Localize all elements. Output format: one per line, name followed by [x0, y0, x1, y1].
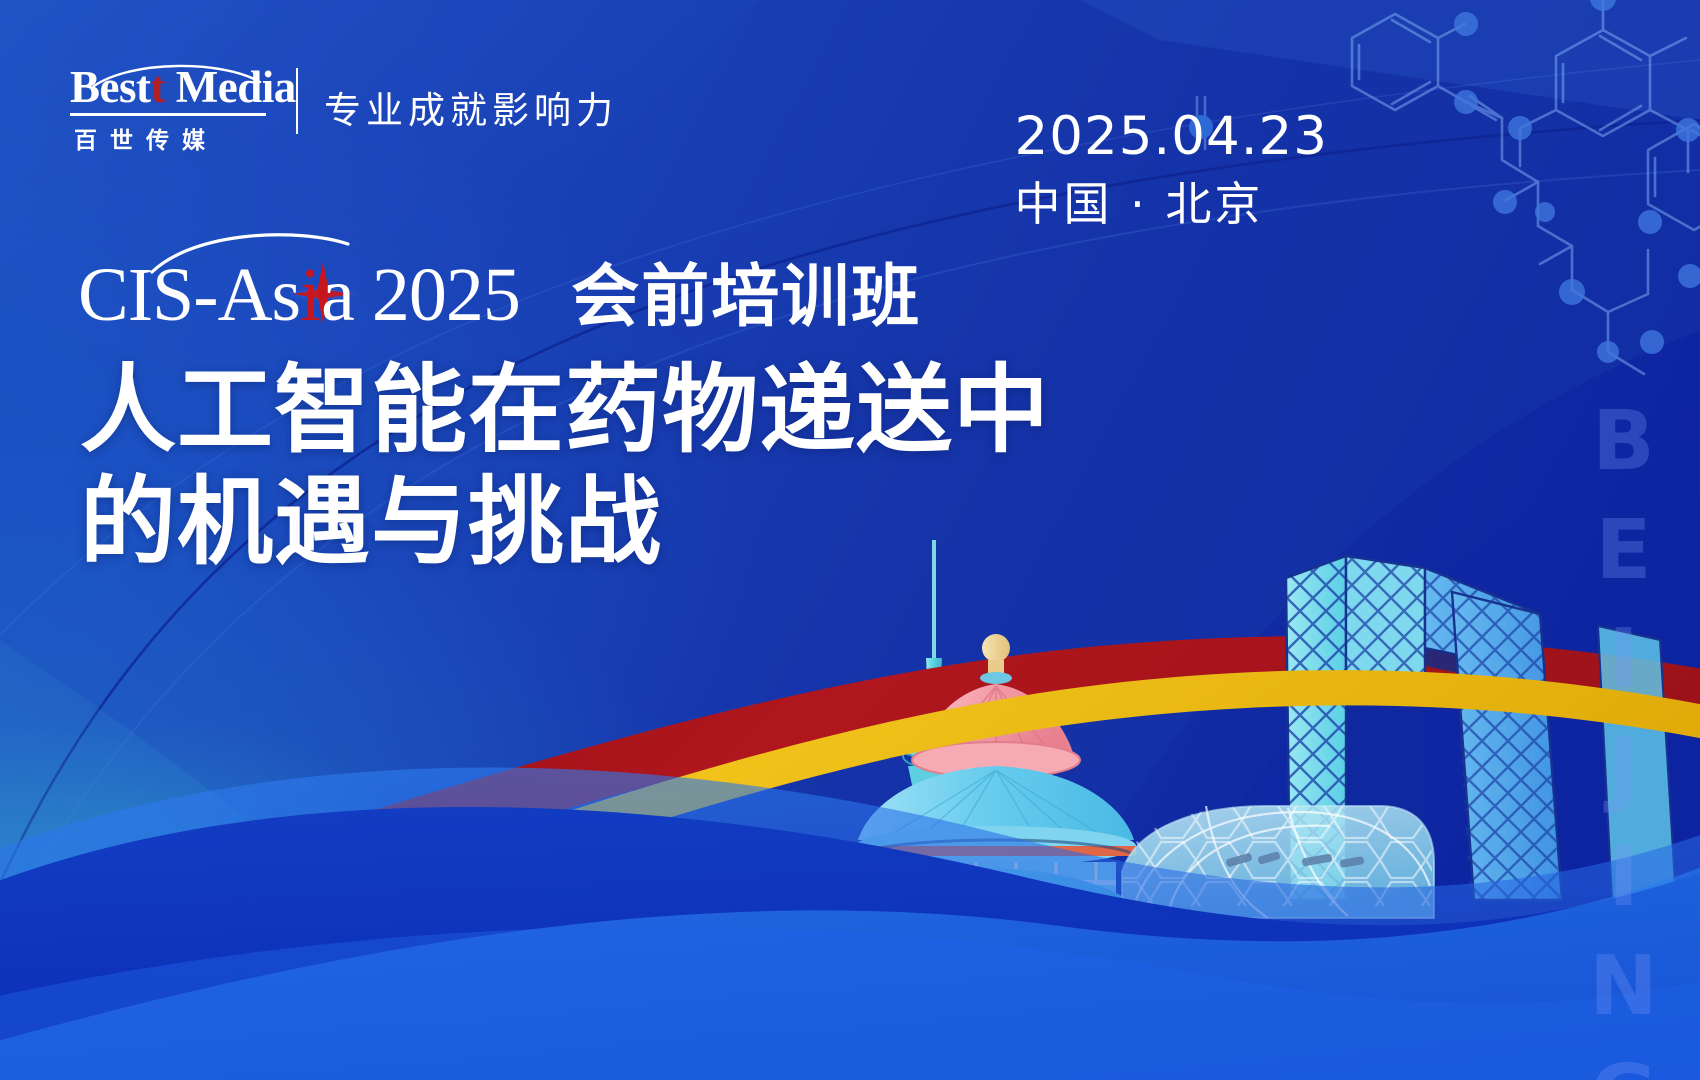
brand-logo[interactable]: Bestt Media 百世传媒 专业成就影响力 — [70, 62, 618, 155]
event-meta: 2025.04.23 中国 · 北京 — [1015, 106, 1328, 234]
event-title-suffix: a 2025 — [321, 253, 520, 337]
logo-wordmark: Bestt Media — [70, 62, 266, 112]
logo-mark: Bestt Media 百世传媒 — [70, 62, 266, 155]
headline-line-2: 的机遇与挑战 — [80, 472, 662, 572]
logo-wordmark-accent-t: t — [151, 62, 166, 112]
conference-banner: Bestt Media 百世传媒 专业成就影响力 2025.04.23 中国 ·… — [0, 0, 1700, 1080]
brand-tagline: 专业成就影响力 — [324, 80, 618, 134]
logo-wordmark-media: Media — [165, 62, 296, 112]
vertical-divider — [296, 68, 298, 134]
event-title-chinese: 会前培训班 — [520, 257, 921, 337]
event-title: CIS-Asia 2025 会前培训班 — [78, 253, 921, 339]
event-title-prefix: CIS-As — [78, 253, 300, 337]
logo-wordmark-best: Best — [70, 62, 151, 112]
event-date: 2025.04.23 — [1015, 106, 1328, 168]
headline-line-1: 人工智能在药物递送中 — [80, 360, 1050, 460]
logo-underline — [70, 113, 266, 116]
logo-chinese-name: 百世传媒 — [70, 121, 266, 155]
event-title-accent-i: i — [300, 253, 321, 337]
event-location: 中国 · 北京 — [1015, 174, 1328, 234]
